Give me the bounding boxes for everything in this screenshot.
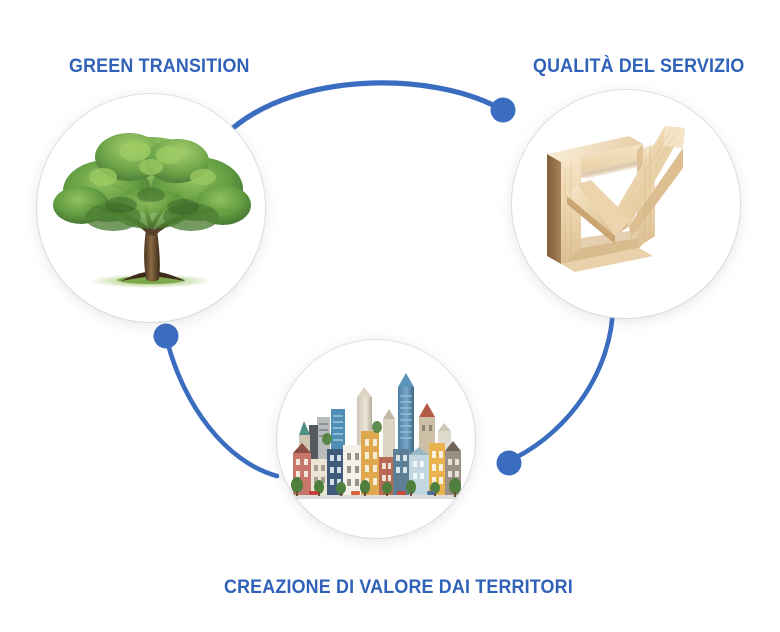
- arc-green-to-quality: [233, 83, 497, 128]
- connector-dot-quality: [491, 98, 516, 123]
- tree-illustration: [51, 121, 251, 296]
- node-label-green-transition: GREEN TRANSITION: [69, 56, 250, 78]
- node-label-qualita-del-servizio: QUALITÀ DEL SERVIZIO: [533, 56, 745, 78]
- connector-dot-green: [154, 324, 179, 349]
- wooden-checkbox-illustration: [533, 114, 719, 294]
- city-skyline-illustration: [287, 369, 465, 509]
- sustainability-cycle-diagram: GREEN TRANSITION: [0, 0, 780, 632]
- node-label-creazione-di-valore-dai-territori: CREAZIONE DI VALORE DAI TERRITORI: [224, 577, 573, 599]
- arc-quality-to-territory: [515, 306, 613, 458]
- node-circle-qualita-del-servizio[interactable]: [512, 90, 740, 318]
- arc-territory-to-green: [168, 344, 277, 476]
- node-circle-green-transition[interactable]: [37, 94, 265, 322]
- node-circle-creazione-di-valore-dai-territori[interactable]: [277, 340, 475, 538]
- connector-dot-territory: [497, 451, 522, 476]
